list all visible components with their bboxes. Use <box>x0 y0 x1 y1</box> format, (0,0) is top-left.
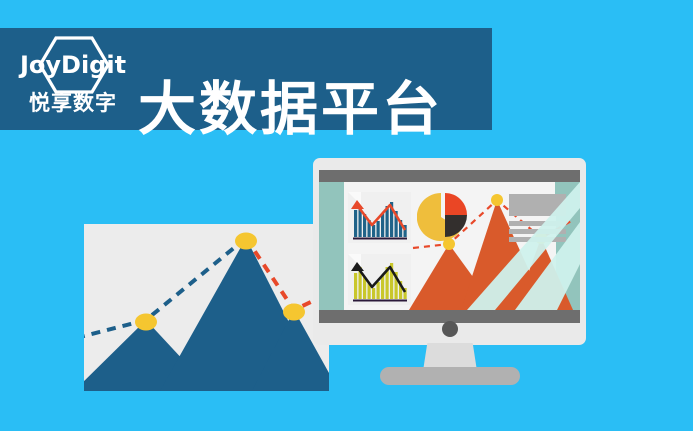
data-marker <box>235 233 257 250</box>
pie-slice-dark <box>445 215 467 237</box>
desktop-monitor <box>313 158 586 345</box>
logo-chinese-name: 悦享数字 <box>14 90 132 118</box>
monitor-screen <box>319 182 580 310</box>
text-block-line <box>509 237 566 242</box>
data-marker <box>491 194 503 206</box>
text-placeholder-block <box>509 194 566 240</box>
monitor-bezel-top <box>319 170 580 182</box>
data-marker <box>283 304 305 321</box>
mountain-trend-panel <box>84 224 329 391</box>
text-block-line <box>509 229 566 234</box>
bar-chart-card-blue <box>348 192 411 243</box>
text-block-line <box>509 221 566 226</box>
pie-slice-red <box>445 193 467 215</box>
camera-dot-icon <box>442 321 458 337</box>
brand-logo: JoyDigit 悦享数字 <box>14 34 132 126</box>
bar-chart-card-yellow <box>348 254 411 305</box>
data-marker <box>135 314 157 331</box>
axis-line <box>353 238 407 240</box>
arrow-head-icon <box>351 262 364 271</box>
header-banner: JoyDigit 悦享数字 大数据平台 <box>0 28 492 130</box>
monitor-stand-base <box>380 367 520 385</box>
arrow-head-icon <box>351 200 364 209</box>
axis-line <box>353 300 407 302</box>
pie-chart <box>417 190 469 242</box>
text-block-heading <box>509 194 566 216</box>
page-title: 大数据平台 <box>138 74 443 144</box>
logo-wordmark: JoyDigit <box>14 50 132 80</box>
poster-stage: JoyDigit 悦享数字 大数据平台 <box>0 0 693 431</box>
